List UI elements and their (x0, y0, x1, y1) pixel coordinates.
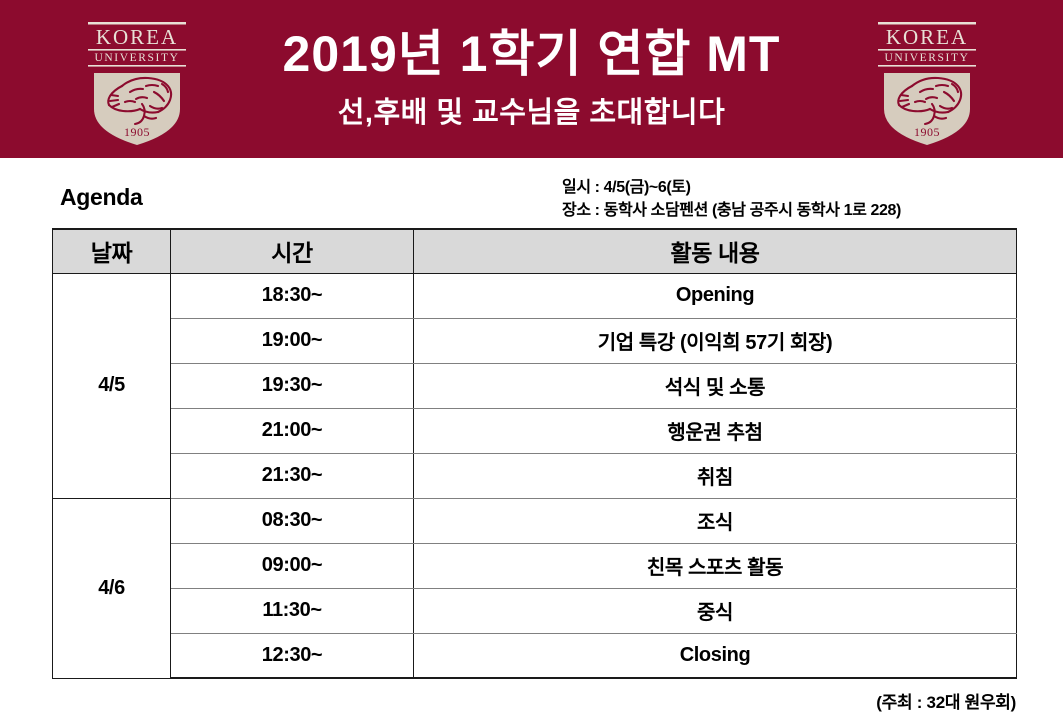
activity-cell: 취침 (414, 453, 1017, 498)
activity-cell: 중식 (414, 588, 1017, 633)
table-row: 4/6 08:30~ 조식 (53, 498, 1017, 543)
table-row: 21:30~ 취침 (53, 453, 1017, 498)
table-row: 19:30~ 석식 및 소통 (53, 363, 1017, 408)
table-row: 12:30~ Closing (53, 633, 1017, 678)
svg-text:KOREA: KOREA (886, 25, 968, 49)
time-cell: 19:30~ (171, 363, 414, 408)
table-row: 19:00~ 기업 특강 (이익희 57기 회장) (53, 318, 1017, 363)
column-header-time: 시간 (171, 229, 414, 273)
table-header-row: 날짜 시간 활동 내용 (53, 229, 1017, 273)
svg-text:KOREA: KOREA (96, 25, 178, 49)
mt-agenda-slide: KOREA UNIVERSITY (0, 0, 1063, 727)
korea-university-crest-icon-right: KOREA UNIVERSITY (868, 16, 986, 148)
time-cell: 21:00~ (171, 408, 414, 453)
main-title: 2019년 1학기 연합 MT (283, 28, 781, 81)
organizer-note: (주최 : 32대 원우회) (876, 688, 1016, 713)
banner-title-group: 2019년 1학기 연합 MT 선,후배 및 교수님을 초대합니다 (200, 0, 863, 158)
agenda-table: 날짜 시간 활동 내용 4/5 18:30~ Opening 19:00~ 기업… (52, 228, 1017, 679)
table-row: 11:30~ 중식 (53, 588, 1017, 633)
time-cell: 19:00~ (171, 318, 414, 363)
svg-text:1905: 1905 (914, 125, 940, 139)
svg-text:UNIVERSITY: UNIVERSITY (885, 52, 970, 64)
activity-cell: 행운권 추첨 (414, 408, 1017, 453)
table-row: 4/5 18:30~ Opening (53, 273, 1017, 318)
time-cell: 09:00~ (171, 543, 414, 588)
table-row: 21:00~ 행운권 추첨 (53, 408, 1017, 453)
event-info: 일시 : 4/5(금)~6(토) 장소 : 동학사 소담펜션 (충남 공주시 동… (562, 176, 901, 222)
event-place-line: 장소 : 동학사 소담펜션 (충남 공주시 동학사 1로 228) (562, 199, 901, 222)
sub-title: 선,후배 및 교수님을 초대합니다 (338, 98, 726, 130)
svg-text:UNIVERSITY: UNIVERSITY (95, 52, 180, 64)
activity-cell: Opening (414, 273, 1017, 318)
event-date-line: 일시 : 4/5(금)~6(토) (562, 176, 901, 199)
activity-cell: 조식 (414, 498, 1017, 543)
time-cell: 21:30~ (171, 453, 414, 498)
time-cell: 12:30~ (171, 633, 414, 678)
column-header-activity: 활동 내용 (414, 229, 1017, 273)
activity-cell: 기업 특강 (이익희 57기 회장) (414, 318, 1017, 363)
korea-university-crest-icon-left: KOREA UNIVERSITY (78, 16, 196, 148)
header-banner: KOREA UNIVERSITY (0, 0, 1063, 158)
time-cell: 18:30~ (171, 273, 414, 318)
time-cell: 08:30~ (171, 498, 414, 543)
table-row: 09:00~ 친목 스포츠 활동 (53, 543, 1017, 588)
activity-cell: 석식 및 소통 (414, 363, 1017, 408)
agenda-heading: Agenda (60, 184, 143, 211)
activity-cell: Closing (414, 633, 1017, 678)
time-cell: 11:30~ (171, 588, 414, 633)
svg-text:1905: 1905 (124, 125, 150, 139)
date-cell: 4/6 (53, 498, 171, 678)
column-header-date: 날짜 (53, 229, 171, 273)
date-cell: 4/5 (53, 273, 171, 498)
activity-cell: 친목 스포츠 활동 (414, 543, 1017, 588)
